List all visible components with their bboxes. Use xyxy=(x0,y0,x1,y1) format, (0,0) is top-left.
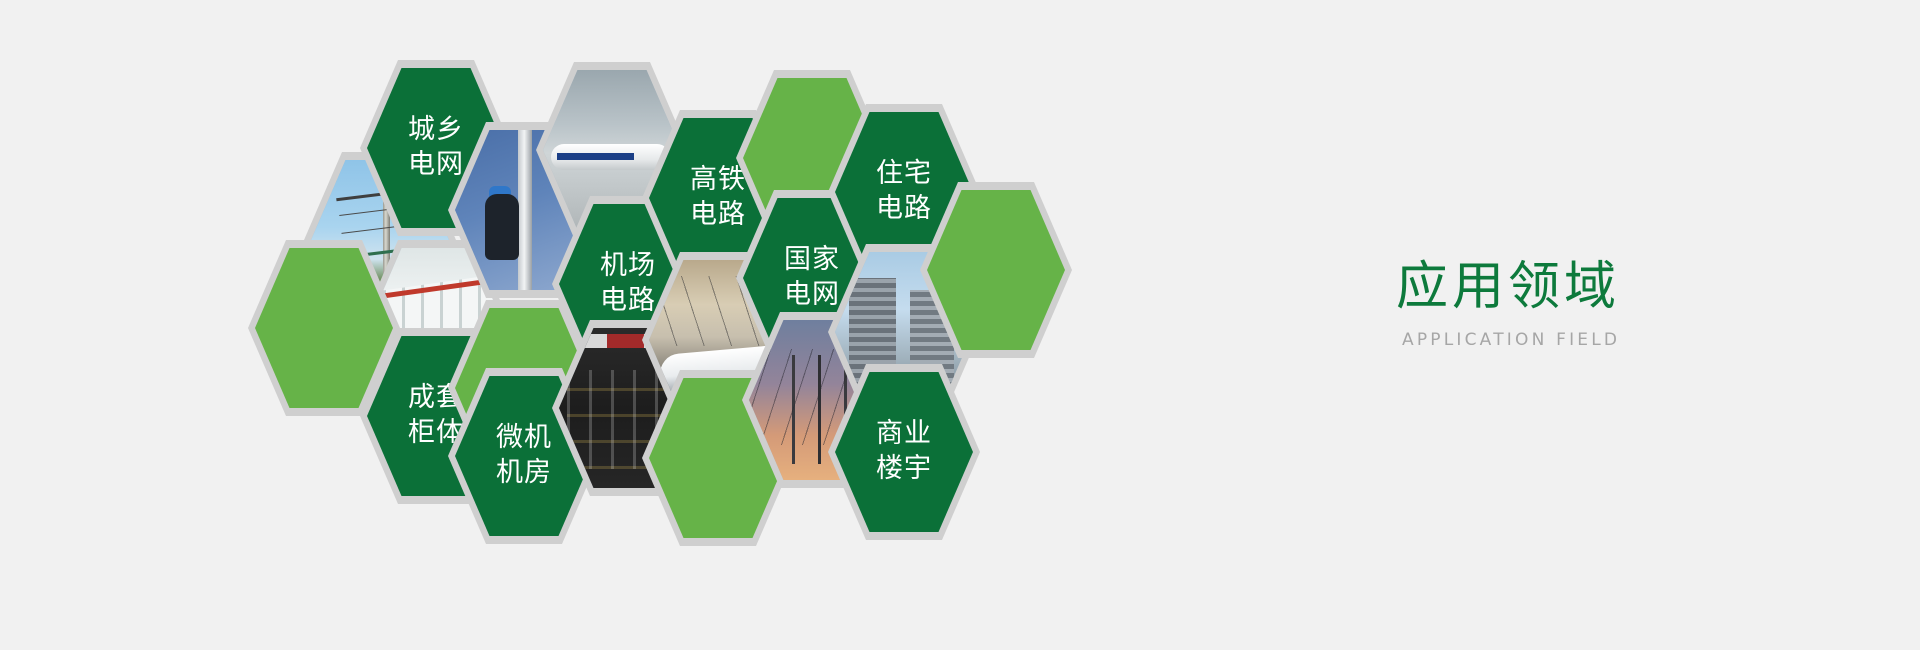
hex-label-airport-label: 机场 电路 xyxy=(600,249,656,318)
page-subtitle: APPLICATION FIELD xyxy=(1402,330,1856,350)
title-block: 应用领域 APPLICATION FIELD xyxy=(1396,258,1856,350)
hex-label-commercial-label: 商业 楼宇 xyxy=(876,417,932,486)
page-title: 应用领域 xyxy=(1396,258,1856,316)
hex-label-urban-rural-label: 城乡 电网 xyxy=(408,113,464,182)
hex-light-left-mid-inner xyxy=(255,248,393,408)
hex-label-state-grid-label: 国家 电网 xyxy=(784,243,840,312)
hex-label-hsr-label: 高铁 电路 xyxy=(690,163,746,232)
application-field-banner: 城乡 电网成套 柜体微机 机房机场 电路高铁 电路国家 电网住宅 电路商业 楼宇… xyxy=(0,0,1920,650)
hex-label-residential-label: 住宅 电路 xyxy=(876,157,932,226)
honeycomb-grid: 城乡 电网成套 柜体微机 机房机场 电路高铁 电路国家 电网住宅 电路商业 楼宇 xyxy=(0,0,1360,650)
hex-label-micro-room-label: 微机 机房 xyxy=(496,421,552,490)
hex-light-far-right-inner xyxy=(927,190,1065,350)
hex-label-commercial-inner: 商业 楼宇 xyxy=(835,372,973,532)
